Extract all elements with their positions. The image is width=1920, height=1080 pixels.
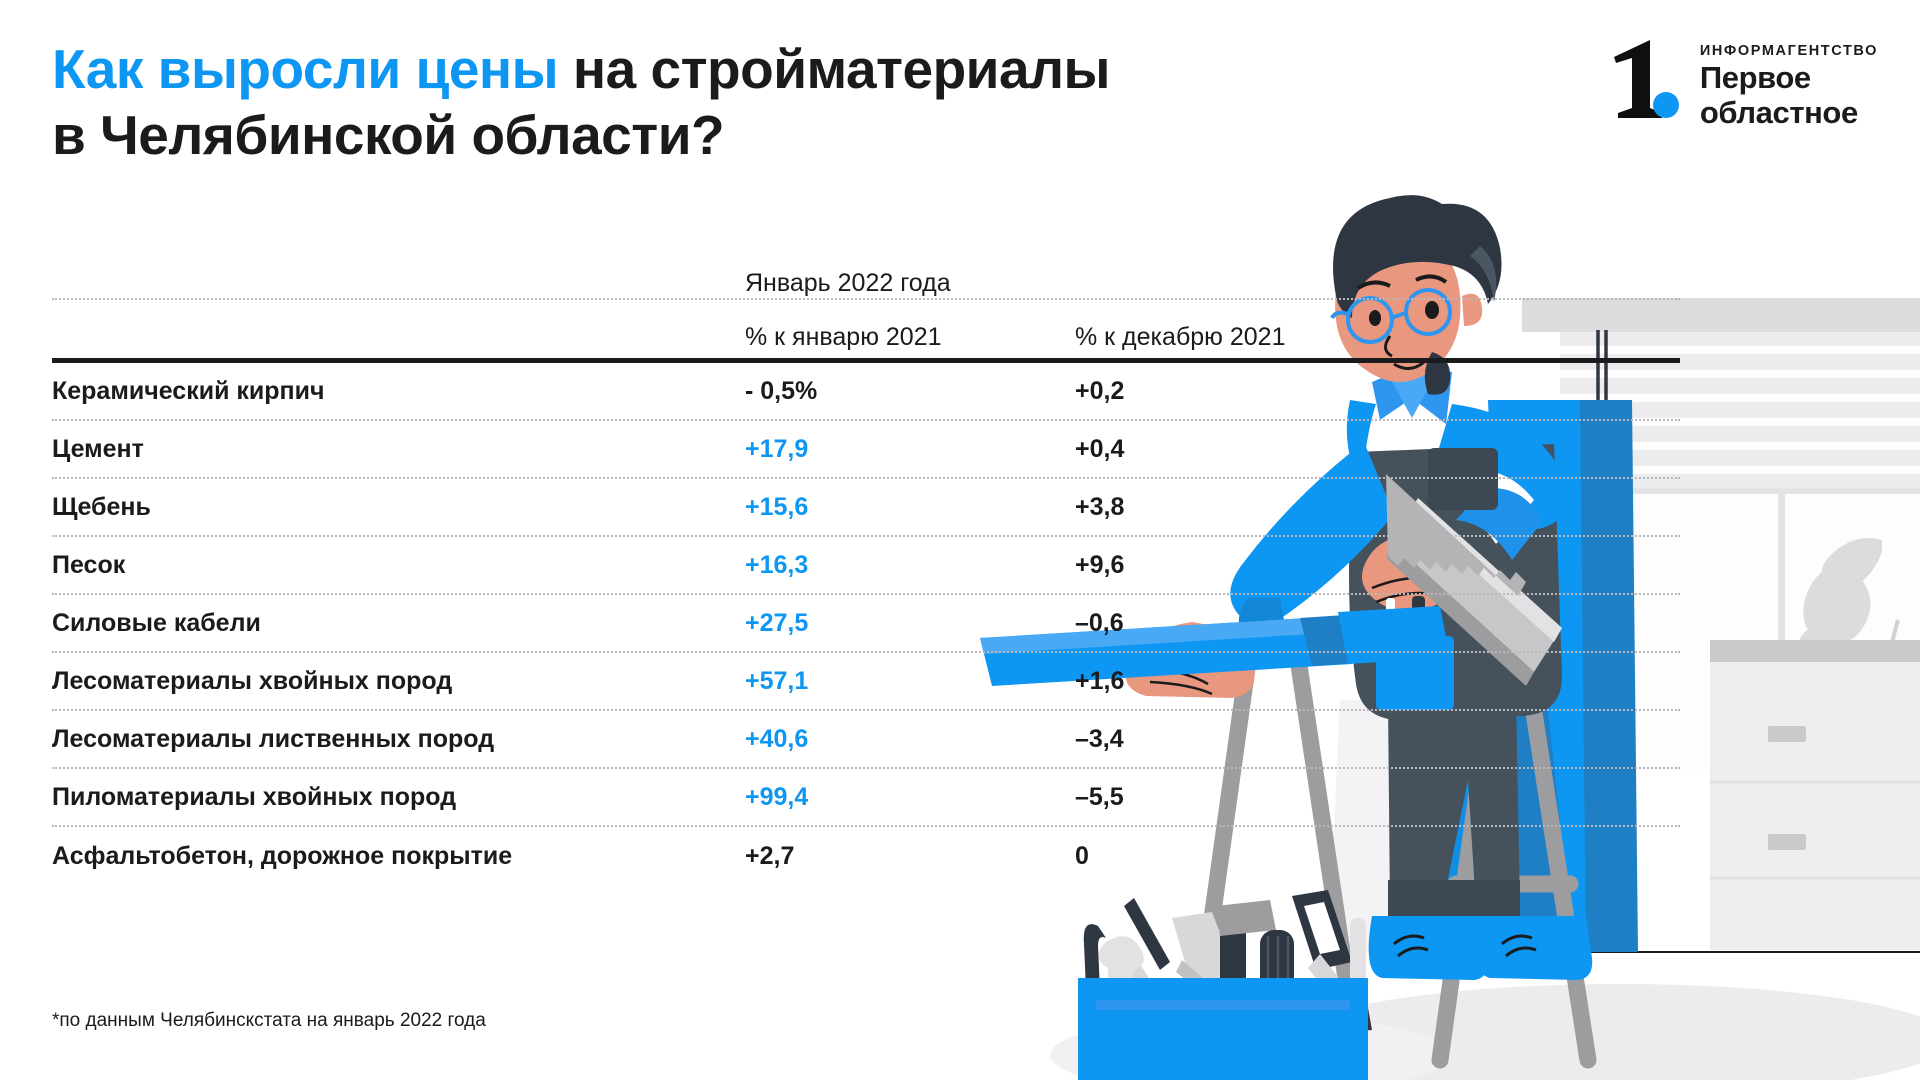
title-accent: Как выросли цены xyxy=(52,38,558,100)
table-column-headers: % к январю 2021 % к декабрю 2021 xyxy=(52,300,1680,352)
source-footnote: *по данным Челябинскстата на январь 2022… xyxy=(52,1010,486,1032)
logo-dot xyxy=(1653,92,1679,118)
value-vs-january-2021: +17,9 xyxy=(745,434,1075,464)
logo-wordmark: ИНФОРМАГЕНТСТВО Первое областное xyxy=(1700,36,1878,130)
value-vs-january-2021: +99,4 xyxy=(745,782,1075,812)
value-vs-january-2021: +15,6 xyxy=(745,492,1075,522)
title-line-1: Как выросли цены на стройматериалы xyxy=(52,36,1552,102)
material-name: Песок xyxy=(52,550,745,580)
value-vs-december-2021: –5,5 xyxy=(1075,782,1680,812)
material-name: Керамический кирпич xyxy=(52,376,745,406)
infographic-page: Как выросли цены на стройматериалы в Чел… xyxy=(0,0,1920,1080)
material-name: Силовые кабели xyxy=(52,608,745,638)
brand-logo[interactable]: ИНФОРМАГЕНТСТВО Первое областное xyxy=(1610,36,1878,130)
value-vs-december-2021: +0,2 xyxy=(1075,376,1680,406)
table-row: Асфальтобетон, дорожное покрытие+2,70 xyxy=(52,827,1680,885)
title-rest: на стройматериалы xyxy=(558,38,1110,100)
table-row: Щебень+15,6+3,8 xyxy=(52,479,1680,537)
table-body: Керамический кирпич- 0,5%+0,2Цемент+17,9… xyxy=(52,363,1680,885)
value-vs-december-2021: +0,4 xyxy=(1075,434,1680,464)
value-vs-december-2021: –3,4 xyxy=(1075,724,1680,754)
table-row: Керамический кирпич- 0,5%+0,2 xyxy=(52,363,1680,421)
logo-word-2: областное xyxy=(1700,95,1878,130)
table-row: Песок+16,3+9,6 xyxy=(52,537,1680,595)
value-vs-january-2021: +16,3 xyxy=(745,550,1075,580)
material-name: Лесоматериалы лиственных пород xyxy=(52,724,745,754)
value-vs-december-2021: +9,6 xyxy=(1075,550,1680,580)
table-row: Силовые кабели+27,5–0,6 xyxy=(52,595,1680,653)
page-title: Как выросли цены на стройматериалы в Чел… xyxy=(52,36,1552,168)
value-vs-january-2021: +27,5 xyxy=(745,608,1075,638)
column-header-2: % к декабрю 2021 xyxy=(1075,322,1680,352)
value-vs-december-2021: +3,8 xyxy=(1075,492,1680,522)
toolbox xyxy=(1078,890,1372,1080)
price-table: Январь 2022 года % к январю 2021 % к дек… xyxy=(52,250,1680,885)
table-row: Пиломатериалы хвойных пород+99,4–5,5 xyxy=(52,769,1680,827)
value-vs-january-2021: +40,6 xyxy=(745,724,1075,754)
shoe-left xyxy=(1369,916,1489,980)
value-vs-december-2021: –0,6 xyxy=(1075,608,1680,638)
logo-kicker: ИНФОРМАГЕНТСТВО xyxy=(1700,42,1878,60)
numeral-one-icon xyxy=(1610,36,1682,122)
table-row: Лесоматериалы хвойных пород+57,1+1,6 xyxy=(52,653,1680,711)
material-name: Цемент xyxy=(52,434,745,464)
value-vs-january-2021: +2,7 xyxy=(745,841,1075,871)
table-period-header: Январь 2022 года xyxy=(52,250,1680,298)
table-row: Цемент+17,9+0,4 xyxy=(52,421,1680,479)
logo-word-1: Первое xyxy=(1700,60,1878,95)
material-name: Пиломатериалы хвойных пород xyxy=(52,782,745,812)
material-name: Щебень xyxy=(52,492,745,522)
title-line-2: в Челябинской области? xyxy=(52,102,1552,168)
value-vs-december-2021: +1,6 xyxy=(1075,666,1680,696)
column-header-1: % к январю 2021 xyxy=(745,322,1075,352)
cabinet xyxy=(1710,640,1920,950)
material-name: Лесоматериалы хвойных пород xyxy=(52,666,745,696)
period-label: Январь 2022 года xyxy=(745,268,951,298)
value-vs-january-2021: +57,1 xyxy=(745,666,1075,696)
value-vs-december-2021: 0 xyxy=(1075,841,1680,871)
value-vs-january-2021: - 0,5% xyxy=(745,376,1075,406)
table-row: Лесоматериалы лиственных пород+40,6–3,4 xyxy=(52,711,1680,769)
material-name: Асфальтобетон, дорожное покрытие xyxy=(52,841,745,871)
